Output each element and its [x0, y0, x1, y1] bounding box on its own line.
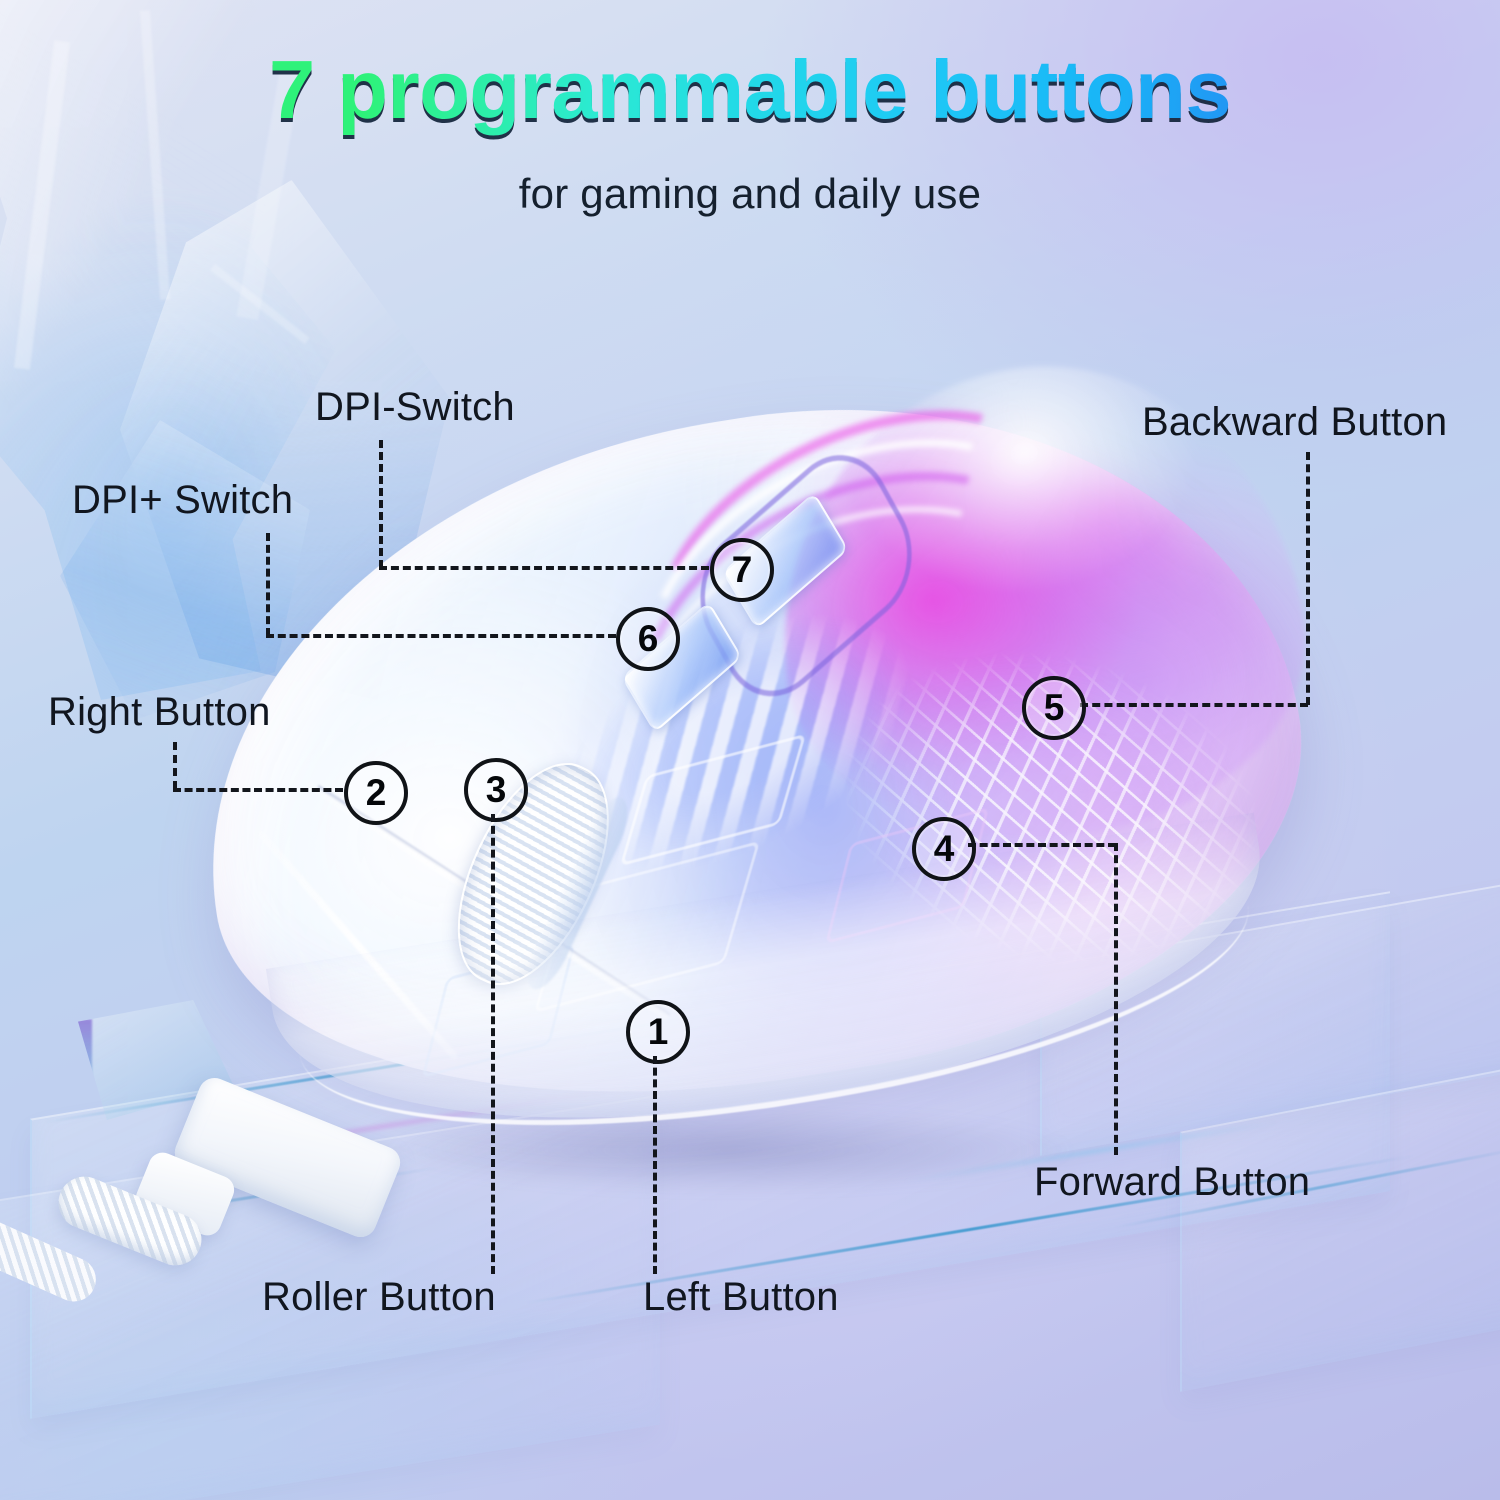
callout-label-right-button: Right Button: [48, 690, 271, 735]
callout-label-dpi-plus-switch: DPI+ Switch: [72, 478, 293, 523]
callout-marker-2[interactable]: 2: [344, 761, 408, 825]
callout-leader-vertical-5: [1306, 452, 1310, 705]
callout-leader-vertical-1: [653, 1056, 657, 1274]
page-subtitle: for gaming and daily use: [0, 170, 1500, 218]
callout-marker-1[interactable]: 1: [626, 1000, 690, 1064]
callout-leader-horizontal-6: [266, 634, 616, 638]
infographic-canvas: 7 programmable buttons 7 programmable bu…: [0, 0, 1500, 1500]
callout-label-roller-button: Roller Button: [262, 1275, 496, 1320]
page-title: 7 programmable buttons 7 programmable bu…: [0, 42, 1500, 138]
mouse-body: [153, 337, 1357, 1192]
callout-leader-horizontal-2: [173, 788, 343, 792]
callout-marker-3[interactable]: 3: [464, 758, 528, 822]
page-title-text: 7 programmable buttons: [269, 42, 1231, 138]
callout-label-left-button: Left Button: [643, 1275, 839, 1320]
callout-leader-horizontal-5: [1080, 703, 1308, 707]
callout-leader-vertical-6: [266, 533, 270, 636]
callout-leader-vertical-2: [173, 742, 177, 789]
callout-label-backward-button: Backward Button: [1142, 400, 1447, 445]
callout-label-dpi-minus-switch: DPI-Switch: [315, 385, 515, 430]
callout-leader-vertical-3: [491, 814, 495, 1274]
callout-marker-7[interactable]: 7: [710, 538, 774, 602]
mouse-product-image: [170, 400, 1330, 1160]
callout-leader-horizontal-7: [379, 566, 709, 570]
callout-marker-4[interactable]: 4: [912, 817, 976, 881]
callout-label-forward-button: Forward Button: [1034, 1160, 1310, 1205]
light-shard: [210, 264, 309, 344]
callout-leader-horizontal-4: [968, 843, 1116, 847]
callout-marker-6[interactable]: 6: [616, 607, 680, 671]
callout-marker-5[interactable]: 5: [1022, 676, 1086, 740]
callout-leader-vertical-7: [379, 440, 383, 568]
callout-leader-vertical-4: [1114, 843, 1118, 1155]
